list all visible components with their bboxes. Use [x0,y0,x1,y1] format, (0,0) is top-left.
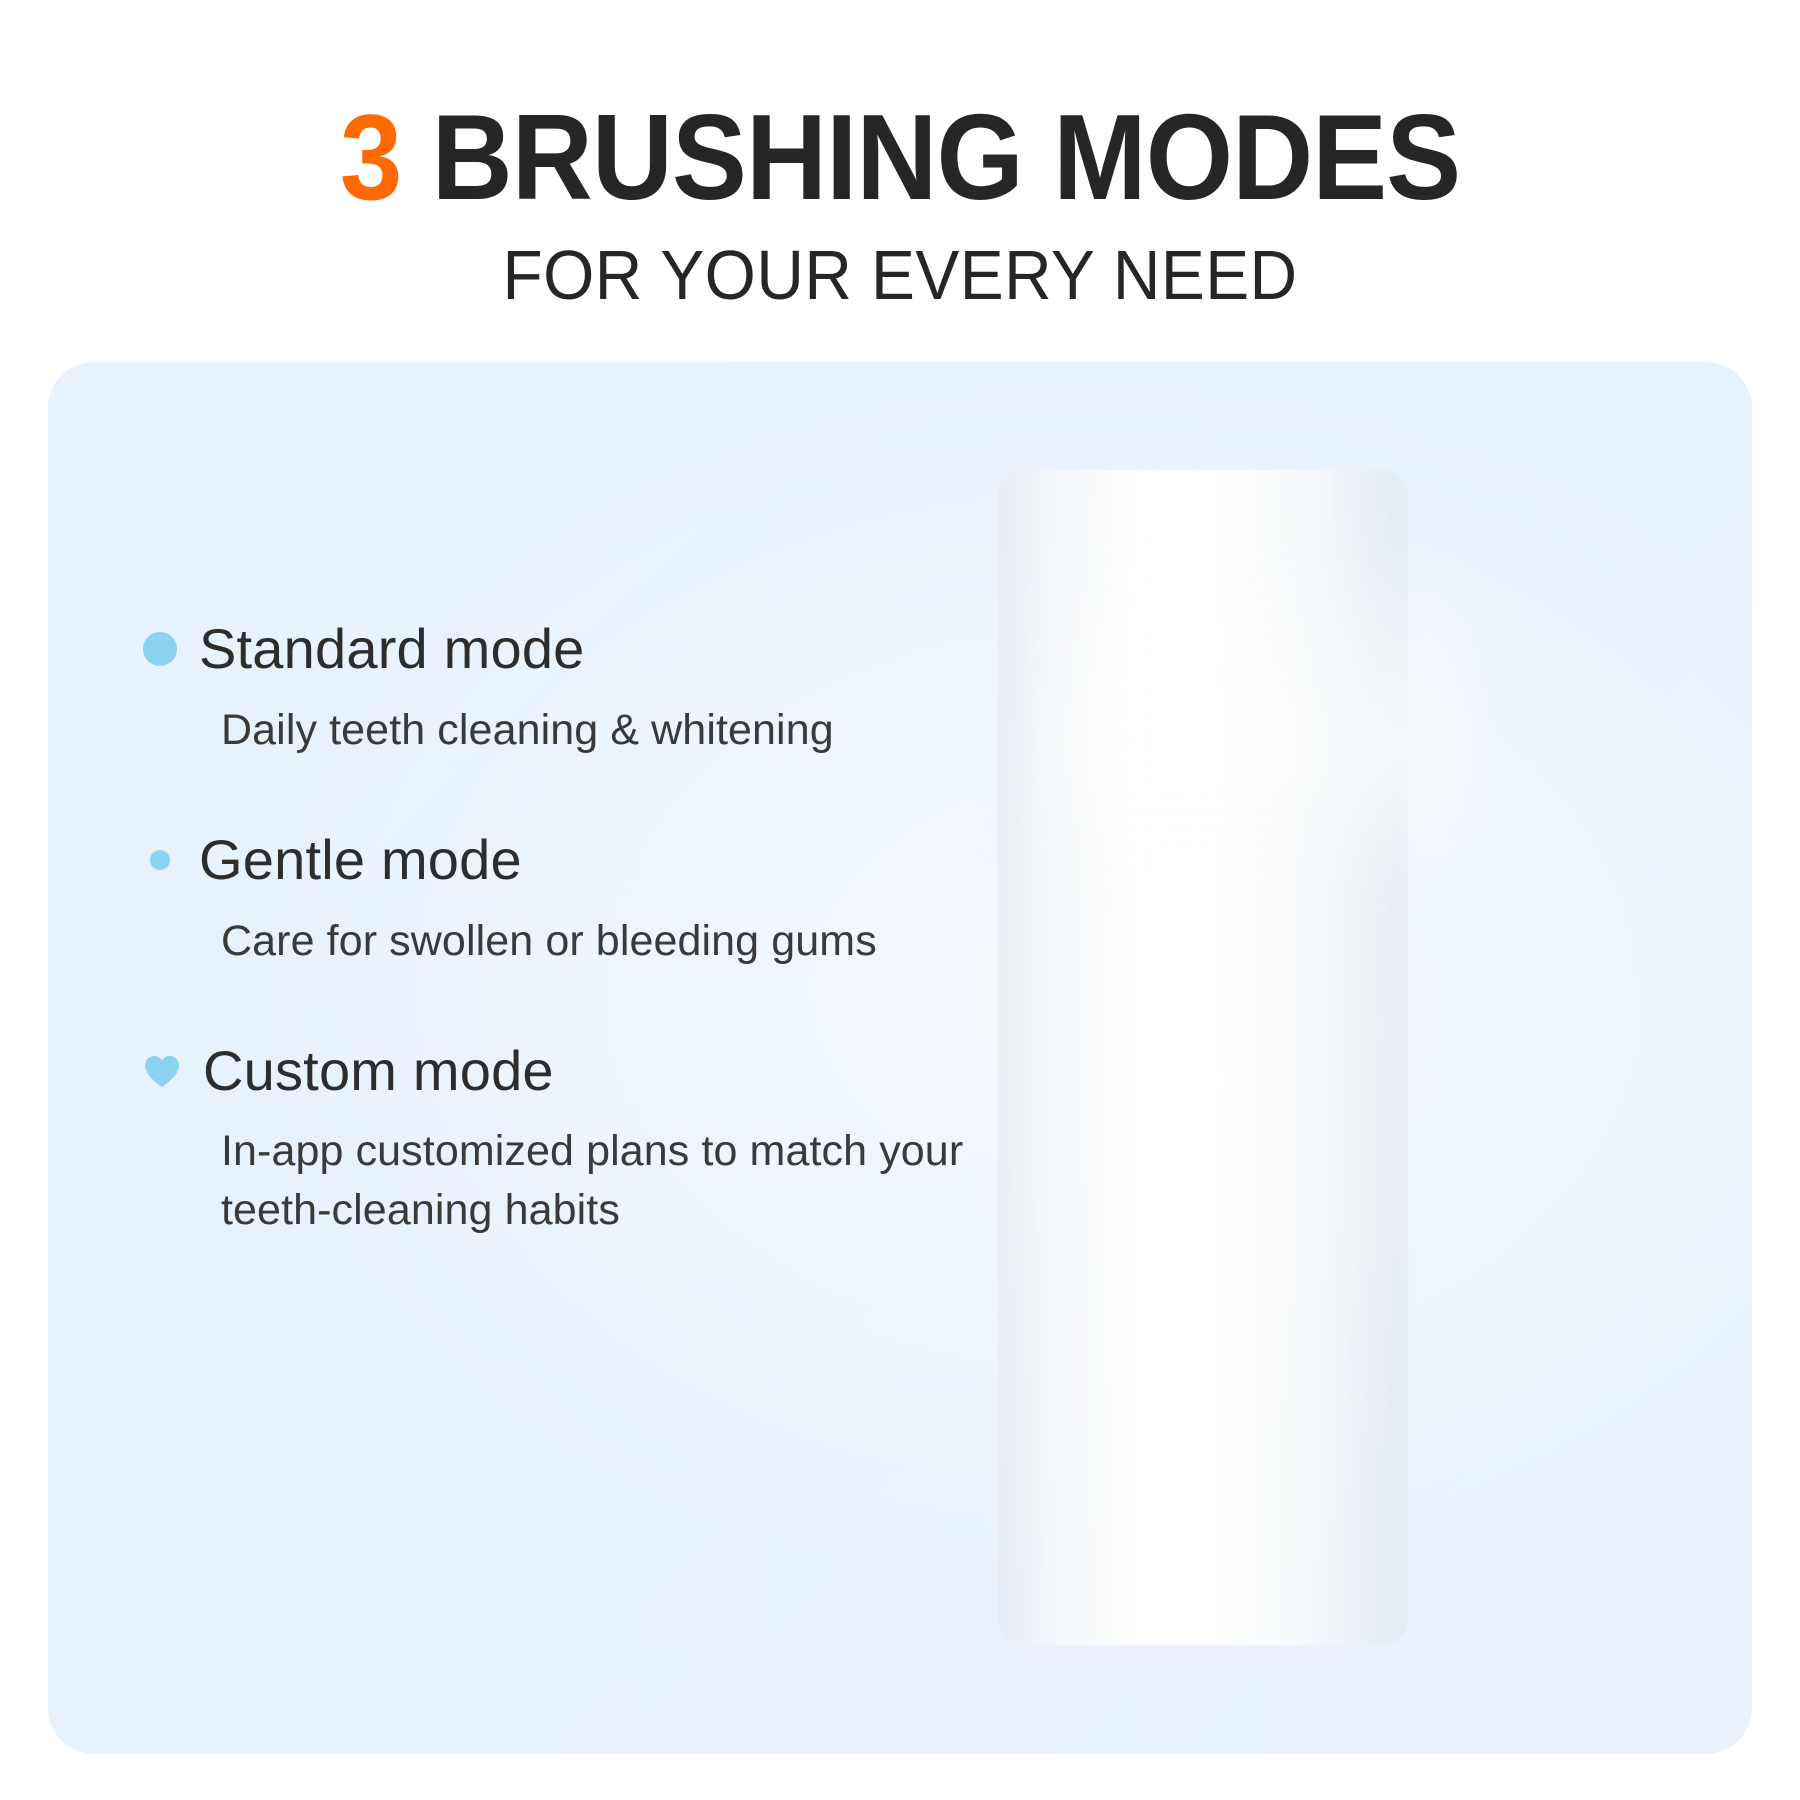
feature-title: Gentle mode [199,831,522,890]
headline-text: BRUSHING MODES [401,89,1460,225]
feature-title: Custom mode [203,1042,554,1101]
toothbrush-handle [998,470,1408,1645]
feature-gentle-mode: Gentle mode Care for swollen or bleeding… [143,831,1043,970]
dot-indicator-icon [1194,908,1212,926]
promo-page: 3 BRUSHING MODES FOR YOUR EVERY NEED [0,0,1800,1800]
page-title: 3 BRUSHING MODES [72,96,1728,218]
feature-header: Standard mode [143,620,1043,679]
battery-indicator-icon [1192,1260,1214,1300]
small-dot-icon [150,850,170,870]
headline-number: 3 [340,89,402,225]
feature-description: In-app customized plans to match your te… [221,1122,1021,1238]
circle-icon [143,632,177,666]
handle-highlight [1058,530,1468,890]
header: 3 BRUSHING MODES FOR YOUR EVERY NEED [0,96,1800,310]
feature-title: Standard mode [199,620,585,679]
heart-indicator-icon [1184,1068,1222,1102]
heart-icon [143,1054,181,1088]
feature-standard-mode: Standard mode Daily teeth cleaning & whi… [143,620,1043,759]
page-subtitle: FOR YOUR EVERY NEED [54,240,1746,310]
circle-indicator-icon [1185,732,1221,768]
feature-custom-mode: Custom mode In-app customized plans to m… [143,1042,1043,1239]
feature-header: Gentle mode [143,831,1043,890]
feature-description: Care for swollen or bleeding gums [221,912,1021,970]
feature-description: Daily teeth cleaning & whitening [221,701,1021,759]
modes-card: Standard mode Daily teeth cleaning & whi… [48,362,1752,1754]
feature-header: Custom mode [143,1042,1043,1101]
feature-list: Standard mode Daily teeth cleaning & whi… [143,620,1043,1239]
